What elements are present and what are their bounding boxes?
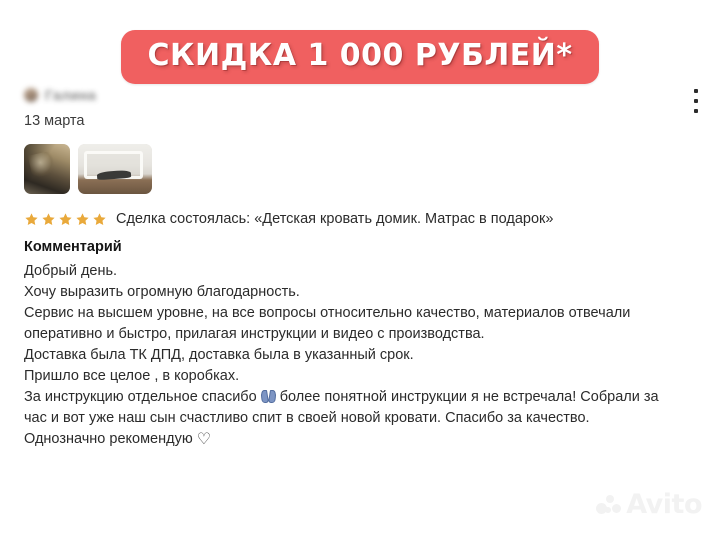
review-photo-list <box>24 144 700 194</box>
star-icon <box>92 212 107 227</box>
comment-line-text-after: более понятной инструкции я не встречала… <box>276 389 659 405</box>
comment-line: Доставка была ТК ДПД, доставка была в ук… <box>24 345 700 366</box>
avito-wordmark: Avito <box>626 491 702 518</box>
heart-outline-icon: ♡ <box>197 429 211 450</box>
review-author-name: Галина <box>45 87 96 103</box>
review-card: Галина 13 марта Сделка состоялась: «Детс… <box>24 86 700 450</box>
discount-banner: СКИДКА 1 000 РУБЛЕЙ* <box>121 30 598 84</box>
avito-logo-icon <box>596 494 622 516</box>
star-icon <box>24 212 39 227</box>
rating-row: Сделка состоялась: «Детская кровать доми… <box>24 211 700 227</box>
avatar <box>24 88 38 102</box>
comment-line-text: Пришло все целое , в коробках. <box>24 368 239 384</box>
star-icon <box>75 212 90 227</box>
discount-banner-text: СКИДКА 1 000 РУБЛЕЙ* <box>147 39 572 73</box>
logo-dot-3 <box>612 504 621 513</box>
comment-line: час и вот уже наш сын счастливо спит в с… <box>24 408 700 429</box>
comment-line-text: Доставка была ТК ДПД, доставка была в ук… <box>24 347 414 363</box>
comment-line-text: Добрый день. <box>24 263 117 279</box>
deal-status-text: Сделка состоялась: «Детская кровать доми… <box>116 211 553 227</box>
comment-heading: Комментарий <box>24 239 700 255</box>
comment-line: Сервис на высшем уровне, на все вопросы … <box>24 303 700 324</box>
star-icon <box>41 212 56 227</box>
comment-line-text: Сервис на высшем уровне, на все вопросы … <box>24 305 630 321</box>
rating-stars <box>24 212 107 227</box>
comment-line: Однозначно рекомендую ♡ <box>24 429 700 450</box>
review-photo-thumbnail[interactable] <box>78 144 152 194</box>
review-date: 13 марта <box>24 113 700 129</box>
comment-line: Добрый день. <box>24 261 700 282</box>
comment-line-text: Хочу выразить огромную благодарность. <box>24 284 300 300</box>
promo-banner-wrapper: СКИДКА 1 000 РУБЛЕЙ* <box>0 30 720 84</box>
comment-line: Пришло все целое , в коробках. <box>24 366 700 387</box>
comment-line: За инструкцию отдельное спасибо более по… <box>24 387 700 408</box>
comment-line-text: час и вот уже наш сын счастливо спит в с… <box>24 410 590 426</box>
comment-line: оперативно и быстро, прилагая инструкции… <box>24 324 700 345</box>
praying-hands-emoji-icon <box>261 388 276 403</box>
photo-image <box>78 144 152 194</box>
comment-line-text: оперативно и быстро, прилагая инструкции… <box>24 326 485 342</box>
star-icon <box>58 212 73 227</box>
comment-line-text: За инструкцию отдельное спасибо <box>24 389 257 405</box>
comment-text-block: Добрый день.Хочу выразить огромную благо… <box>24 261 700 450</box>
comment-line-text: Однозначно рекомендую <box>24 431 193 447</box>
review-photo-thumbnail[interactable] <box>24 144 70 194</box>
comment-line: Хочу выразить огромную благодарность. <box>24 282 700 303</box>
avito-watermark: Avito <box>596 491 702 518</box>
logo-dot-4 <box>605 507 611 513</box>
photo-image <box>24 144 70 194</box>
review-author-row[interactable]: Галина <box>24 86 700 104</box>
logo-dot-2 <box>606 495 614 503</box>
